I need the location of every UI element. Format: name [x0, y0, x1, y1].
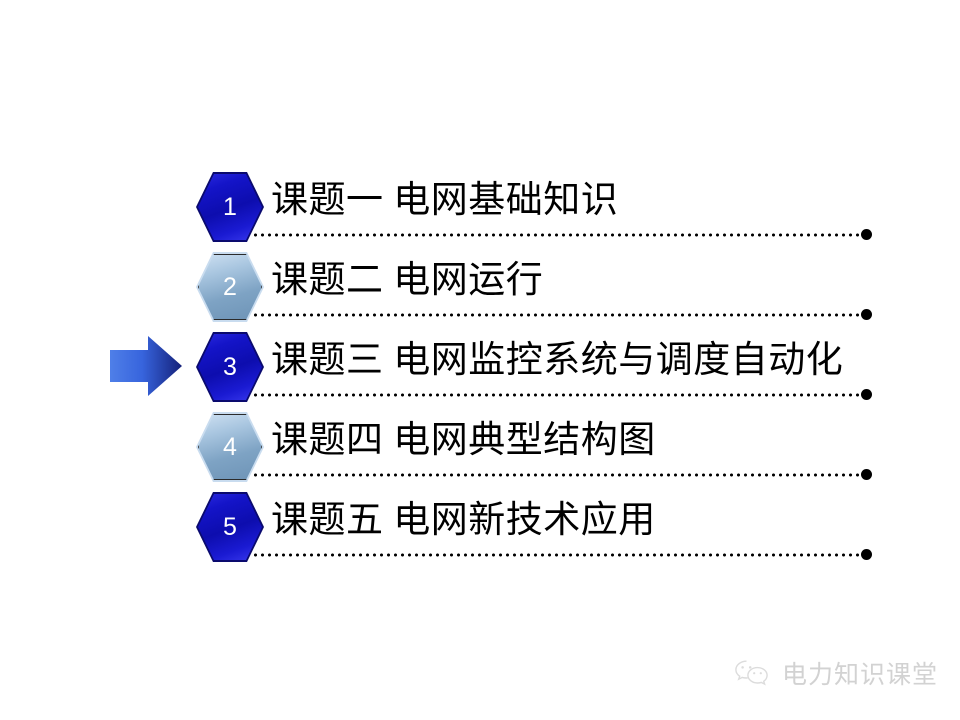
hexagon-number-3: 3 [196, 332, 264, 402]
agenda-dotted-line-5 [252, 553, 863, 557]
agenda-dotted-line-2 [252, 313, 863, 317]
hexagon-number-1: 1 [196, 172, 264, 242]
agenda-title-4: 课题四 电网典型结构图 [271, 410, 656, 472]
agenda-line-end-dot-1 [861, 229, 872, 240]
agenda-title-5: 课题五 电网新技术应用 [271, 490, 656, 552]
slide-canvas: 1 课题一 电网基础知识 2 课题二 电网运行 [0, 0, 960, 720]
agenda-row-2[interactable]: 2 课题二 电网运行 [0, 250, 960, 330]
hexagon-badge-2[interactable]: 2 [196, 252, 264, 322]
agenda-line-end-dot-3 [861, 389, 872, 400]
watermark-label: 电力知识课堂 [782, 663, 938, 688]
agenda-row-1[interactable]: 1 课题一 电网基础知识 [0, 170, 960, 250]
current-section-arrow-icon [110, 336, 182, 396]
agenda-title-1: 课题一 电网基础知识 [271, 170, 618, 232]
agenda-line-end-dot-2 [861, 309, 872, 320]
agenda-dotted-line-4 [252, 473, 863, 477]
wechat-icon [733, 658, 773, 693]
agenda-line-end-dot-4 [861, 469, 872, 480]
agenda-title-3: 课题三 电网监控系统与调度自动化 [271, 330, 843, 392]
hexagon-badge-3[interactable]: 3 [196, 332, 264, 402]
hexagon-badge-1[interactable]: 1 [196, 172, 264, 242]
hexagon-number-5: 5 [196, 492, 264, 562]
hexagon-number-2: 2 [196, 252, 264, 322]
agenda-list: 1 课题一 电网基础知识 2 课题二 电网运行 [0, 0, 960, 720]
agenda-row-4[interactable]: 4 课题四 电网典型结构图 [0, 410, 960, 490]
hexagon-badge-4[interactable]: 4 [196, 412, 264, 482]
agenda-line-end-dot-5 [861, 549, 872, 560]
agenda-dotted-line-3 [252, 393, 863, 397]
hexagon-number-4: 4 [196, 412, 264, 482]
agenda-title-2: 课题二 电网运行 [271, 250, 543, 312]
hexagon-badge-5[interactable]: 5 [196, 492, 264, 562]
agenda-dotted-line-1 [252, 233, 863, 237]
agenda-row-3[interactable]: 3 课题三 电网监控系统与调度自动化 [0, 330, 960, 410]
watermark: 电力知识课堂 [733, 650, 948, 700]
agenda-row-5[interactable]: 5 课题五 电网新技术应用 [0, 490, 960, 570]
